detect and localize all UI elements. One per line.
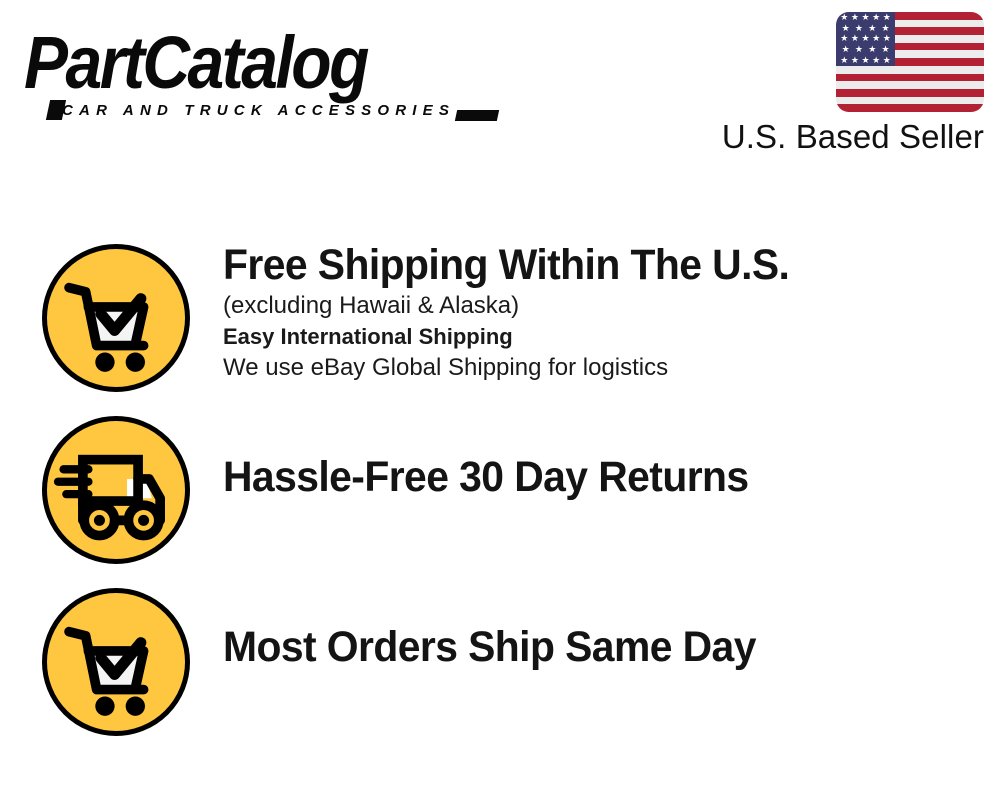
star-icon: ★ bbox=[862, 56, 870, 65]
flag-stripe bbox=[836, 97, 984, 105]
star-icon: ★ bbox=[840, 56, 848, 65]
flag-stripe bbox=[836, 104, 984, 112]
star-icon: ★ bbox=[842, 45, 850, 54]
star-icon: ★ bbox=[862, 34, 870, 43]
flag-stripe bbox=[836, 74, 984, 82]
flag-stripe bbox=[836, 66, 984, 74]
flag-star-row: ★★★★ bbox=[836, 44, 895, 55]
star-icon: ★ bbox=[882, 45, 890, 54]
star-icon: ★ bbox=[855, 45, 863, 54]
flag-star-row: ★★★★★ bbox=[836, 34, 895, 45]
flag-canton: ★★★★★★★★★★★★★★★★★★★★★★★ bbox=[836, 12, 895, 66]
star-icon: ★ bbox=[851, 56, 859, 65]
benefit-sub-heading: Easy International Shipping bbox=[223, 321, 983, 352]
star-icon: ★ bbox=[868, 24, 876, 33]
brand-tagline: CAR AND TRUCK ACCESSORIES bbox=[62, 102, 455, 119]
flag-star-row: ★★★★★ bbox=[836, 55, 895, 66]
benefit-heading: Hassle-Free 30 Day Returns bbox=[223, 452, 945, 502]
benefit-sub-detail: We use eBay Global Shipping for logistic… bbox=[223, 352, 983, 383]
star-icon: ★ bbox=[851, 34, 859, 43]
flag-stripe bbox=[836, 81, 984, 89]
star-icon: ★ bbox=[862, 13, 870, 22]
star-icon: ★ bbox=[840, 13, 848, 22]
us-flag-icon: ★★★★★★★★★★★★★★★★★★★★★★★ bbox=[836, 12, 984, 112]
shopping-cart-check-icon bbox=[42, 588, 190, 736]
star-icon: ★ bbox=[855, 24, 863, 33]
star-icon: ★ bbox=[883, 34, 891, 43]
star-icon: ★ bbox=[882, 24, 890, 33]
brand-wordmark: PartCatalog bbox=[24, 22, 494, 103]
benefit-row: Hassle-Free 30 Day Returns bbox=[0, 410, 1000, 582]
star-icon: ★ bbox=[872, 13, 880, 22]
delivery-truck-icon bbox=[42, 416, 190, 564]
us-based-seller-label: U.S. Based Seller bbox=[714, 118, 984, 156]
flag-star-row: ★★★★ bbox=[836, 23, 895, 34]
benefit-sub-note: (excluding Hawaii & Alaska) bbox=[223, 290, 983, 321]
star-icon: ★ bbox=[883, 13, 891, 22]
benefit-text-group: Most Orders Ship Same Day bbox=[223, 622, 983, 672]
logo-accent-right bbox=[455, 110, 499, 121]
us-based-seller-block: ★★★★★★★★★★★★★★★★★★★★★★★ U.S. Based Selle… bbox=[714, 12, 984, 156]
star-icon: ★ bbox=[840, 34, 848, 43]
benefit-text-group: Hassle-Free 30 Day Returns bbox=[223, 452, 983, 502]
star-icon: ★ bbox=[851, 13, 859, 22]
benefits-list: Free Shipping Within The U.S. (excluding… bbox=[0, 238, 1000, 754]
star-icon: ★ bbox=[868, 45, 876, 54]
flag-star-row: ★★★★★ bbox=[836, 12, 895, 23]
star-icon: ★ bbox=[872, 56, 880, 65]
star-icon: ★ bbox=[872, 34, 880, 43]
benefit-row: Free Shipping Within The U.S. (excluding… bbox=[0, 238, 1000, 410]
benefit-text-group: Free Shipping Within The U.S. (excluding… bbox=[223, 240, 983, 383]
star-icon: ★ bbox=[842, 24, 850, 33]
benefit-heading: Free Shipping Within The U.S. bbox=[223, 240, 945, 290]
star-icon: ★ bbox=[883, 56, 891, 65]
benefit-row: Most Orders Ship Same Day bbox=[0, 582, 1000, 754]
benefit-heading: Most Orders Ship Same Day bbox=[223, 622, 945, 672]
flag-stripe bbox=[836, 89, 984, 97]
shopping-cart-check-icon bbox=[42, 244, 190, 392]
brand-logo: PartCatalog CAR AND TRUCK ACCESSORIES bbox=[24, 22, 494, 118]
